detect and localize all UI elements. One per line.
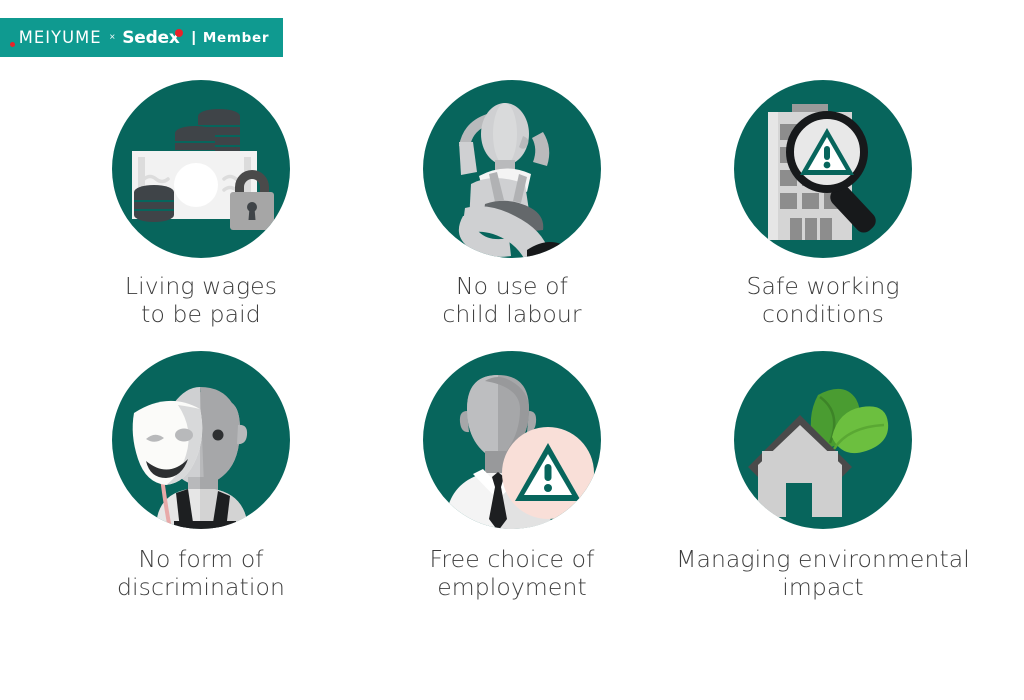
principle-card-living-wages: Living wages to be paid <box>46 80 357 328</box>
principles-row-1: Living wages to be paid <box>0 80 1024 328</box>
brand-name-meiyume: MEIYUME <box>19 28 102 48</box>
building-magnifier-warning-icon <box>734 80 912 258</box>
principle-card-safe-working: Safe working conditions <box>668 80 979 328</box>
sedex-dot-icon <box>175 29 183 37</box>
house-leaves-icon <box>734 351 912 529</box>
brand-separator-x: × <box>109 32 115 43</box>
principle-caption: No use of child labour <box>442 272 581 328</box>
principle-caption: Free choice of employment <box>430 545 595 601</box>
principles-grid: Living wages to be paid <box>0 80 1024 601</box>
principle-caption: No form of discrimination <box>117 545 285 601</box>
partner-logo-sedex: Sedex <box>122 28 179 48</box>
principle-caption: Living wages to be paid <box>125 272 277 328</box>
principle-caption: Safe working conditions <box>746 272 899 328</box>
membership-label: Member <box>203 30 269 46</box>
principle-caption: Managing environmental impact <box>676 545 970 601</box>
money-lock-icon <box>112 80 290 258</box>
brand-banner: MEIYUME × Sedex | Member <box>0 18 283 57</box>
principle-card-environment: Managing environmental impact <box>668 351 979 601</box>
seated-child-icon <box>423 80 601 258</box>
principle-card-discrimination: No form of discrimination <box>46 351 357 601</box>
principles-row-2: No form of discrimination <box>0 351 1024 601</box>
person-mask-icon <box>112 351 290 529</box>
partner-name-sedex: Sedex <box>122 28 179 48</box>
brand-accent-dot-icon <box>10 42 15 47</box>
principle-card-free-choice: Free choice of employment <box>357 351 668 601</box>
brand-pipe-divider: | <box>192 29 196 46</box>
principle-card-child-labour: No use of child labour <box>357 80 668 328</box>
businessman-warning-icon <box>423 351 601 529</box>
